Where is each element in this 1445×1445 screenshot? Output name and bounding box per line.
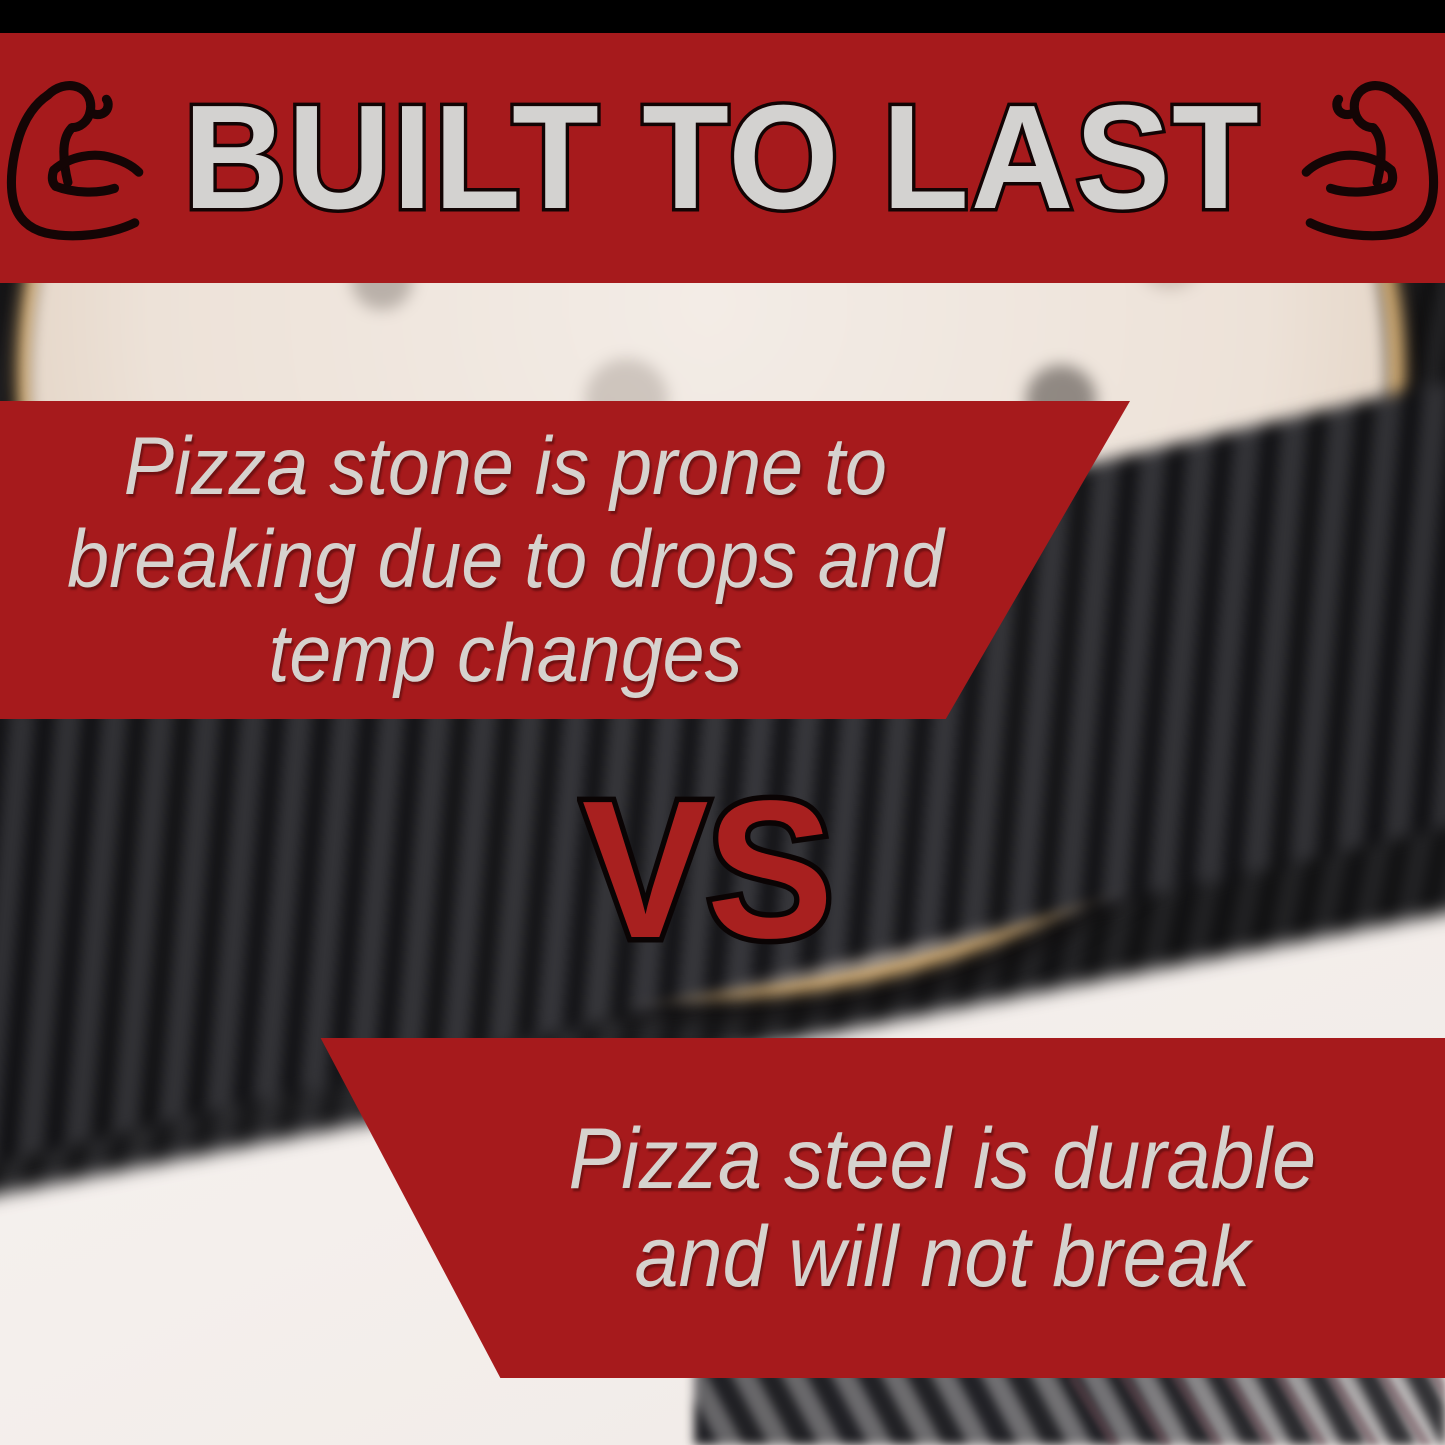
pizza-stone-callout: Pizza stone is prone to breaking due to …: [0, 401, 1130, 719]
pizza-stone-callout-text: Pizza stone is prone to breaking due to …: [67, 420, 944, 700]
pizza-steel-callout-text: Pizza steel is durable and will not brea…: [569, 1110, 1317, 1306]
vs-divider-label: VS: [582, 772, 832, 968]
flexed-bicep-icon: [1290, 70, 1445, 246]
page-title: BUILT TO LAST: [184, 84, 1261, 232]
product-infographic: BUILT TO LAST Pizza stone is prone to br…: [0, 0, 1445, 1445]
top-black-bar: [0, 0, 1445, 33]
flexed-bicep-icon: [0, 70, 155, 246]
header-banner: BUILT TO LAST: [0, 33, 1445, 283]
